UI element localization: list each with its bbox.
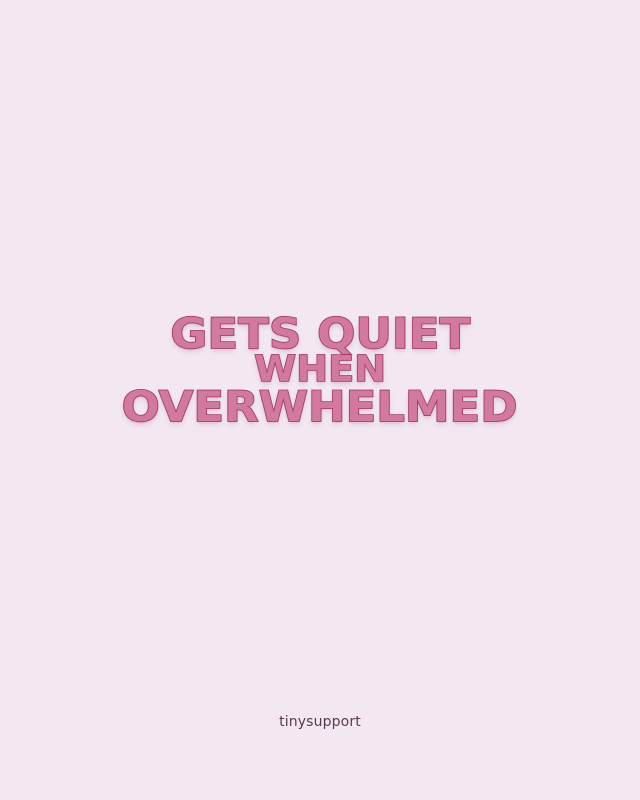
headline-line-2: WHEN (254, 353, 386, 386)
headline-line-1: GETS QUIET (170, 314, 470, 353)
headline-block: GETS QUIET WHEN OVERWHELMED (0, 0, 640, 800)
footer-handle: tinysupport (0, 714, 640, 730)
headline-line-3: OVERWHELMED (122, 387, 518, 426)
poster-canvas: GETS QUIET WHEN OVERWHELMED tinysupport (0, 0, 640, 800)
